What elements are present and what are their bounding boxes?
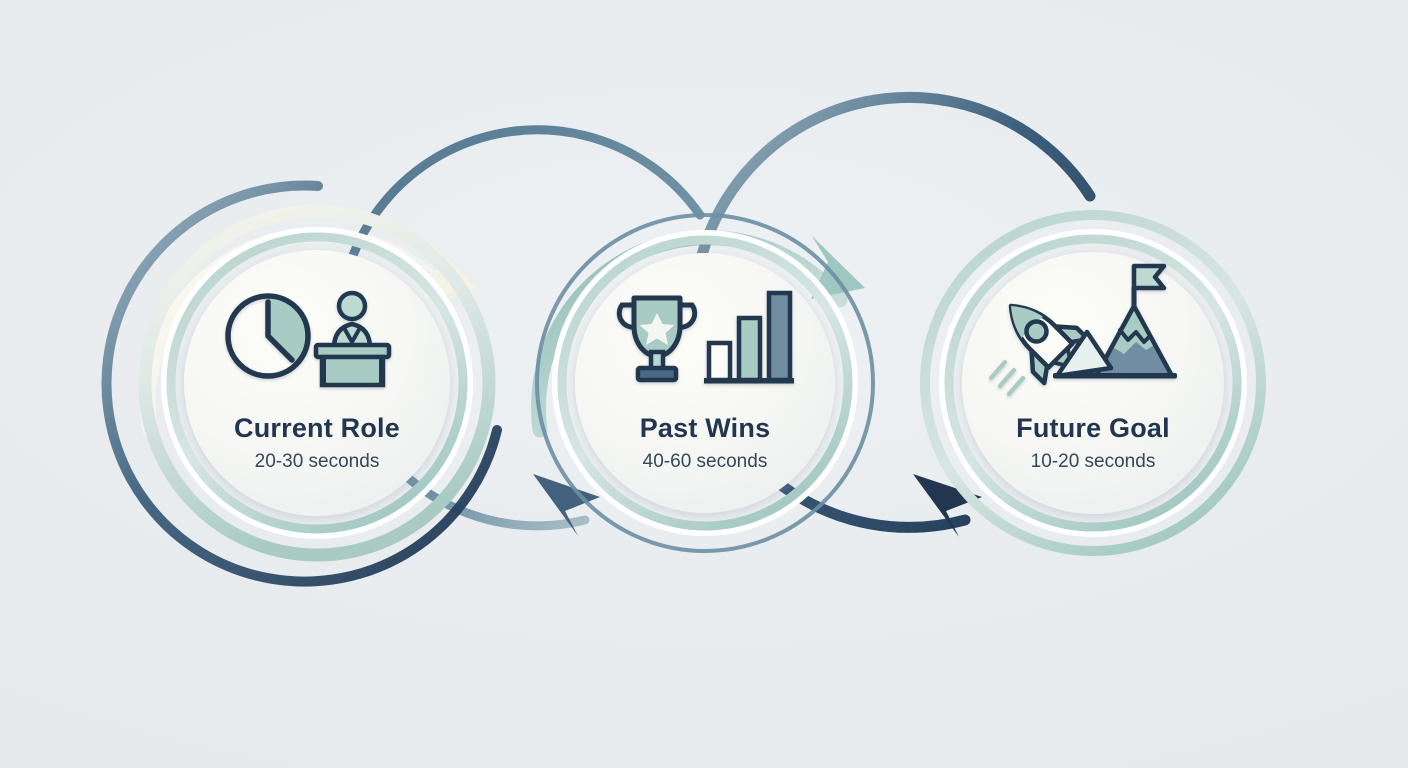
- infographic-canvas: Current Role 20-30 seconds Past Wins 40-…: [0, 0, 1408, 768]
- node-future-goal[interactable]: [925, 215, 1261, 551]
- infographic-artwork: [0, 0, 1408, 768]
- node-past-wins[interactable]: [537, 215, 873, 551]
- node-disc: [184, 250, 450, 516]
- node-current-role[interactable]: [145, 211, 489, 555]
